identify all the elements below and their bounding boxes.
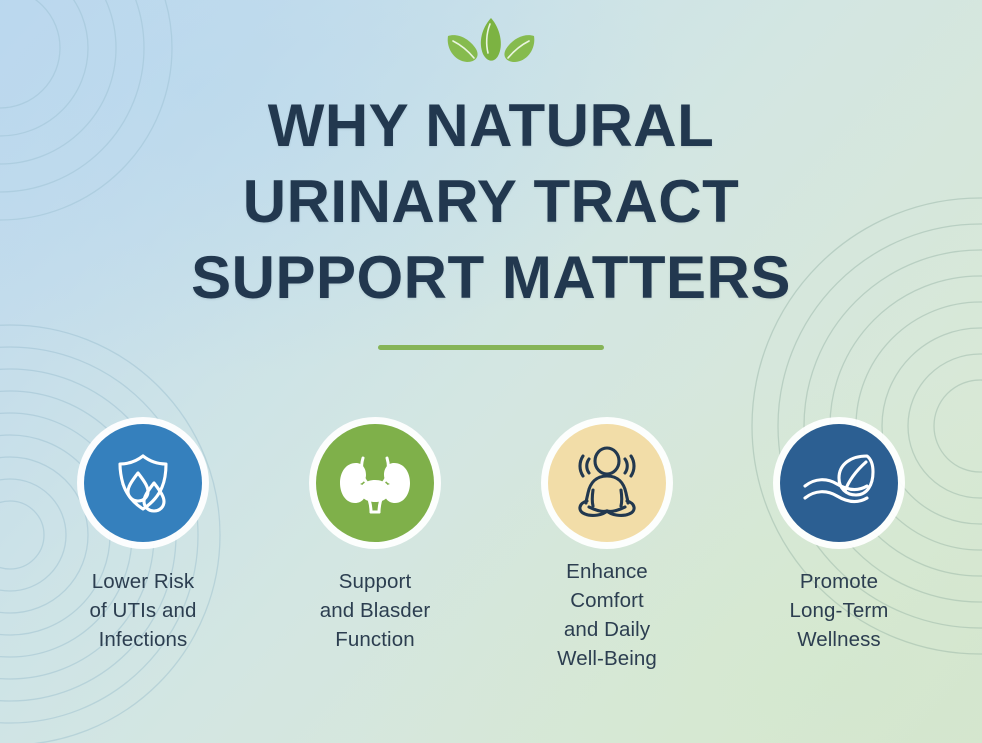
caption-line: of UTIs and [89, 599, 196, 622]
three-leaves-icon [436, 14, 546, 76]
caption-line: Lower Risk [92, 570, 194, 593]
benefit-cards-row: Lower Risk of UTIs and Infections [0, 424, 982, 673]
title-line-1: WHY NATURAL [0, 88, 982, 164]
caption-line: Infections [99, 628, 188, 651]
badge-lower-risk [84, 424, 202, 542]
caption-line: and Daily [564, 618, 650, 641]
green-divider [378, 345, 604, 350]
leaf-waves-icon [799, 448, 879, 518]
benefit-card-comfort: Enhance Comfort and Daily Well-Being [491, 424, 723, 673]
meditating-person-icon [567, 445, 647, 521]
caption-bladder-function: Support and Blasder Function [320, 567, 431, 654]
benefit-card-bladder-function: Support and Blasder Function [259, 424, 491, 654]
page-title: WHY NATURAL URINARY TRACT SUPPORT MATTER… [0, 88, 982, 316]
caption-lower-risk: Lower Risk of UTIs and Infections [89, 567, 196, 654]
shield-water-drops-icon [106, 446, 180, 520]
caption-line: Support [339, 570, 412, 593]
badge-long-term-wellness [780, 424, 898, 542]
infographic-poster: WHY NATURAL URINARY TRACT SUPPORT MATTER… [0, 0, 982, 743]
logo [0, 14, 982, 76]
caption-line: Enhance [566, 560, 648, 583]
badge-comfort [548, 424, 666, 542]
badge-bladder-function [316, 424, 434, 542]
title-line-3: SUPPORT MATTERS [0, 240, 982, 316]
benefit-card-lower-risk: Lower Risk of UTIs and Infections [27, 424, 259, 654]
caption-line: Well-Being [557, 647, 657, 670]
benefit-card-long-term-wellness: Promote Long-Term Wellness [723, 424, 955, 654]
caption-line: Promote [800, 570, 878, 593]
divider-container [0, 345, 982, 350]
caption-line: Comfort [570, 589, 644, 612]
caption-line: and Blasder [320, 599, 431, 622]
title-line-2: URINARY TRACT [0, 164, 982, 240]
caption-comfort: Enhance Comfort and Daily Well-Being [557, 557, 657, 673]
caption-line: Wellness [797, 628, 881, 651]
caption-long-term-wellness: Promote Long-Term Wellness [790, 567, 889, 654]
caption-line: Long-Term [790, 599, 889, 622]
caption-line: Function [335, 628, 414, 651]
kidneys-bladder-icon [336, 446, 414, 520]
